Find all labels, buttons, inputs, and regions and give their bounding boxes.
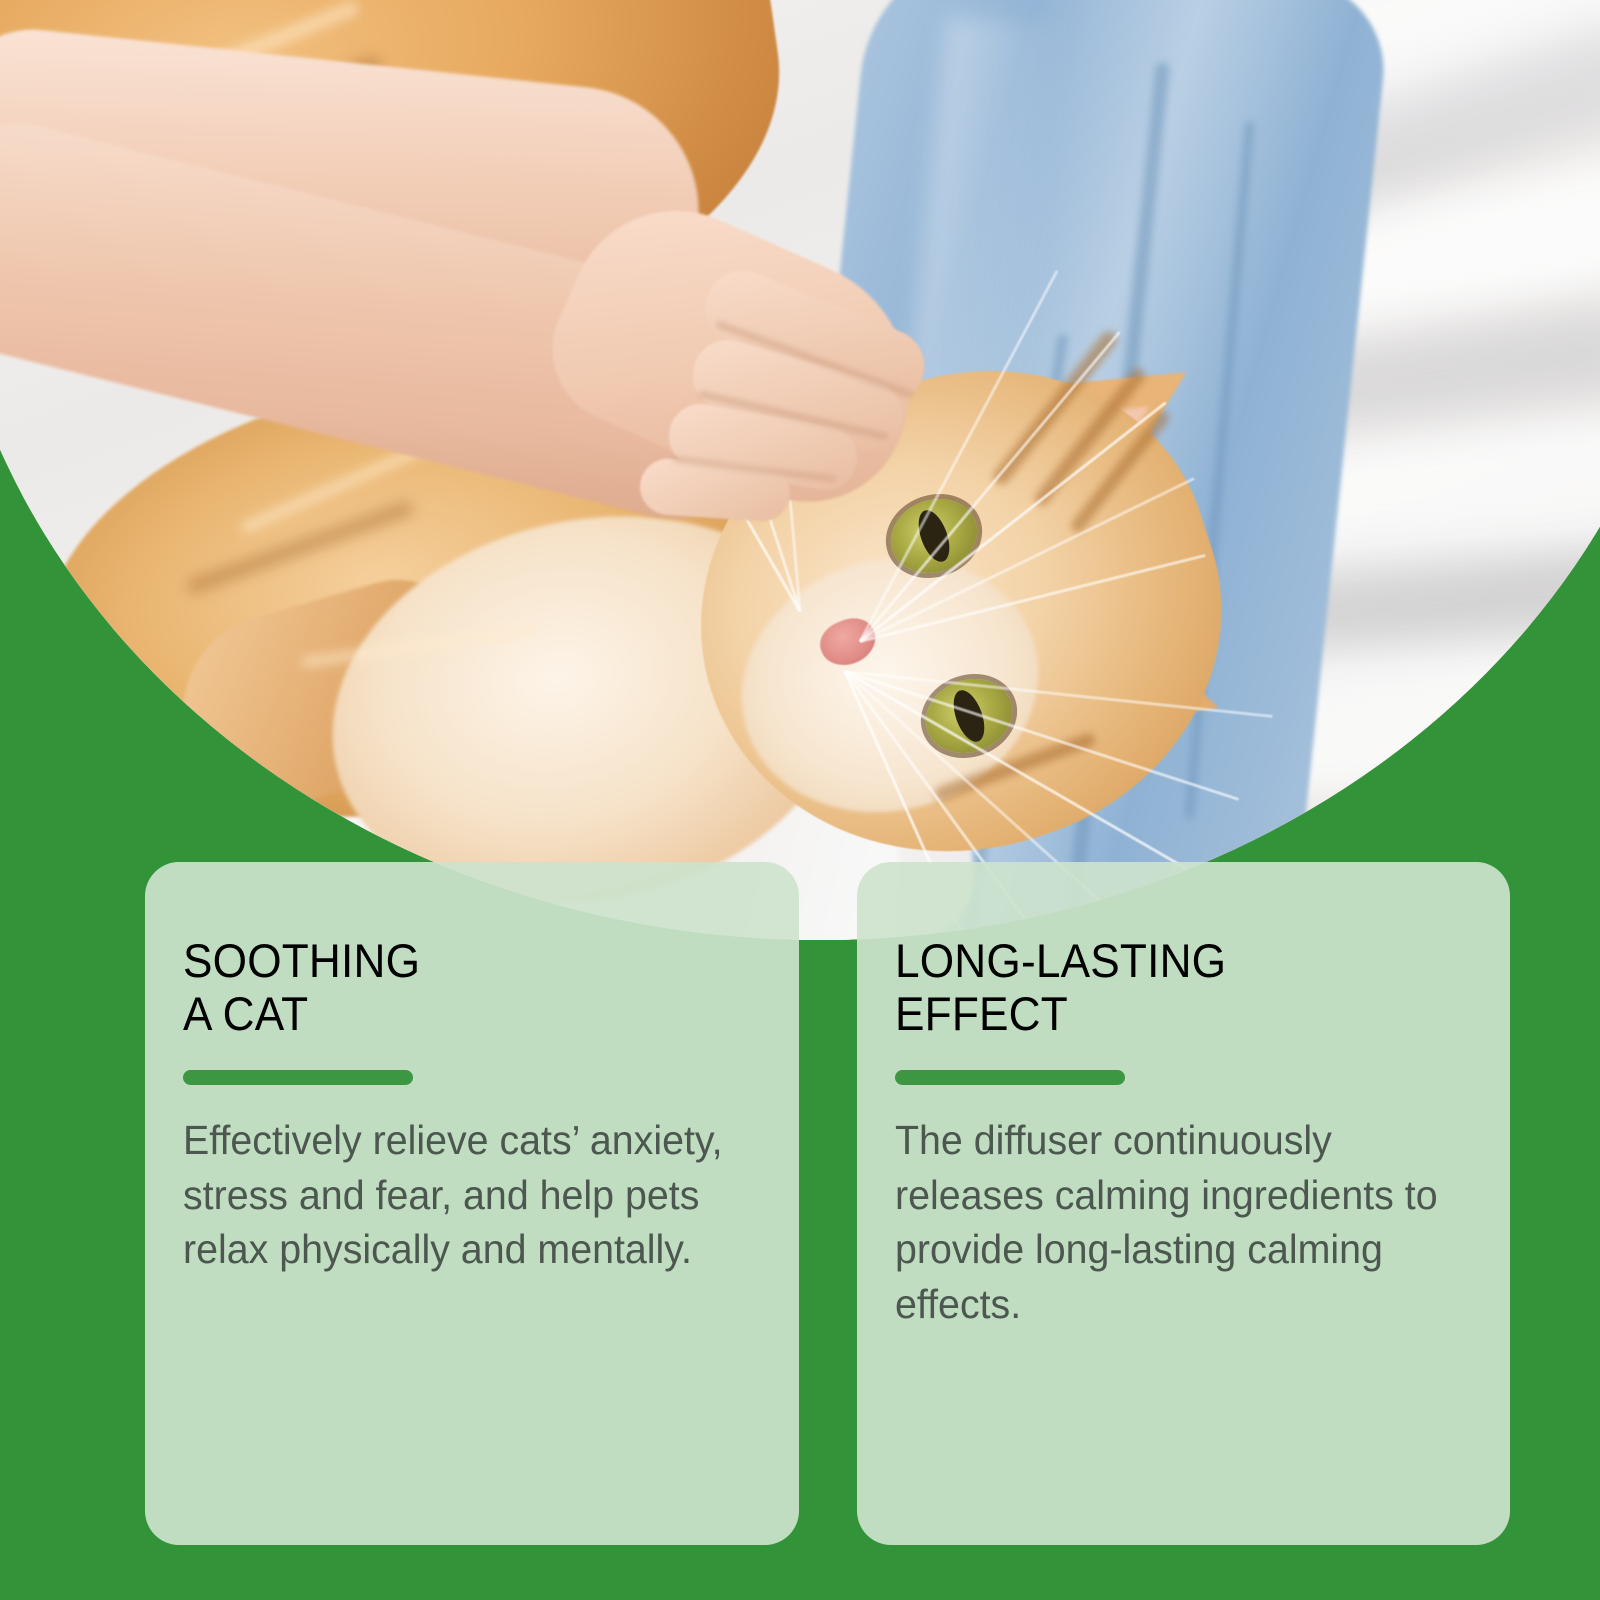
feature-card-soothing-a-cat[interactable]: SOOTHING A CAT Effectively relieve cats’… (145, 862, 799, 1545)
accent-bar (183, 1070, 413, 1085)
card-body-text: The diffuser continuously releases calmi… (895, 1113, 1442, 1331)
card-title: SOOTHING A CAT (183, 934, 718, 1040)
hero-photo-circle-mask (0, 0, 1600, 940)
accent-bar (895, 1070, 1125, 1085)
card-title: LONG-LASTING EFFECT (895, 934, 1430, 1040)
card-body-text: Effectively relieve cats’ anxiety, stres… (183, 1113, 730, 1277)
feature-card-long-lasting-effect[interactable]: LONG-LASTING EFFECT The diffuser continu… (857, 862, 1511, 1545)
hero-photo (0, 0, 1600, 940)
feature-card-list: SOOTHING A CAT Effectively relieve cats’… (145, 862, 1510, 1545)
feature-banner: SOOTHING A CAT Effectively relieve cats’… (0, 0, 1600, 1600)
